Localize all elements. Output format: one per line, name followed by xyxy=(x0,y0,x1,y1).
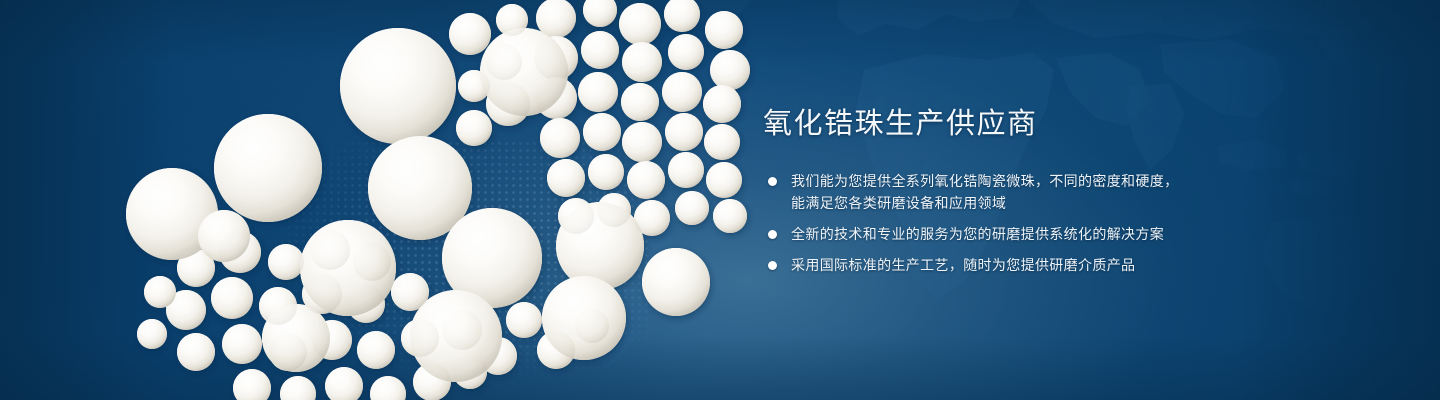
hero-banner: #backBeads circle, #frontBeads circle { … xyxy=(0,0,1440,400)
banner-copy: 氧化锆珠生产供应商 我们能为您提供全系列氧化锆陶瓷微珠，不同的密度和硬度，能满足… xyxy=(763,104,1363,276)
banner-bullet-item: 全新的技术和专业的服务为您的研磨提供系统化的解决方案 xyxy=(763,223,1188,245)
banner-bullet-list: 我们能为您提供全系列氧化锆陶瓷微珠，不同的密度和硬度，能满足您各类研磨设备和应用… xyxy=(763,170,1363,276)
banner-bullet-item: 我们能为您提供全系列氧化锆陶瓷微珠，不同的密度和硬度，能满足您各类研磨设备和应用… xyxy=(763,170,1188,214)
banner-headline: 氧化锆珠生产供应商 xyxy=(763,104,1363,144)
banner-bullet-text: 全新的技术和专业的服务为您的研磨提供系统化的解决方案 xyxy=(791,226,1164,242)
bullet-dot-icon xyxy=(768,261,777,270)
banner-bullet-item: 采用国际标准的生产工艺，随时为您提供研磨介质产品 xyxy=(763,254,1188,276)
bullet-dot-icon xyxy=(768,230,777,239)
banner-bullet-text: 采用国际标准的生产工艺，随时为您提供研磨介质产品 xyxy=(791,257,1135,273)
bullet-dot-icon xyxy=(768,177,777,186)
banner-bullet-text: 我们能为您提供全系列氧化锆陶瓷微珠，不同的密度和硬度，能满足您各类研磨设备和应用… xyxy=(791,173,1178,211)
